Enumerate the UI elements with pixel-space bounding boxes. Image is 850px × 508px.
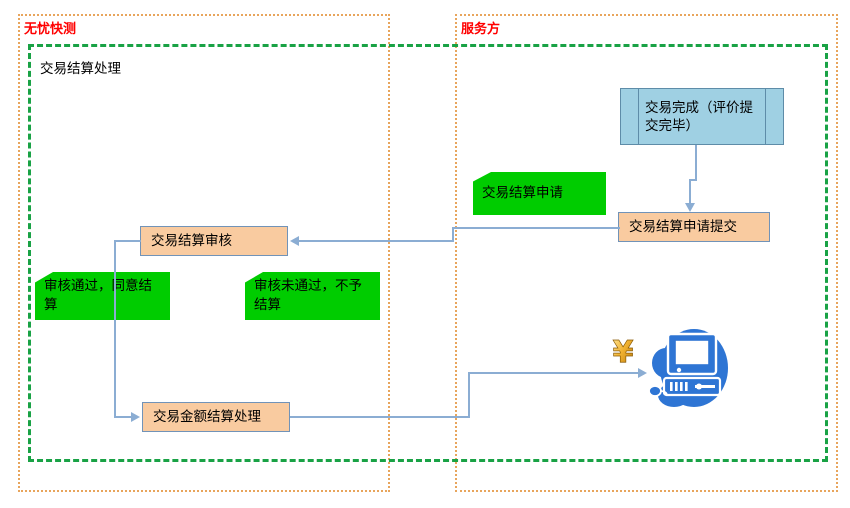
- predefined-bar-right: [765, 88, 766, 145]
- node-settlement-review-label: 交易结算审核: [151, 232, 232, 250]
- connector-c4-seg1: [290, 416, 470, 418]
- yuan-currency-glyph: ¥: [608, 334, 638, 368]
- node-transaction-complete-label: 交易完成（评价提交完毕）: [645, 99, 763, 135]
- node-review-approved[interactable]: 审核通过，同意结算: [35, 272, 170, 320]
- connector-c2-seg1: [452, 227, 620, 229]
- connector-c1-arrowhead: [685, 203, 695, 212]
- diagram-canvas: 无忧快测 服务方 交易结算处理 交易完成（评价提交完毕） 交易结算申请提交 交易…: [0, 0, 850, 508]
- yuan-currency-icon: ¥: [608, 334, 638, 368]
- predefined-bar-left: [638, 88, 639, 145]
- node-settlement-request[interactable]: 交易结算申请: [473, 172, 606, 215]
- node-settlement-review[interactable]: 交易结算审核: [140, 226, 288, 256]
- connector-c3-arrowhead: [131, 412, 140, 422]
- lane-right-title: 服务方: [461, 22, 500, 37]
- connector-c4-seg3: [468, 372, 640, 374]
- connector-c2-seg3: [299, 240, 454, 242]
- settlement-group-title: 交易结算处理: [40, 61, 121, 77]
- connector-c3-seg1: [114, 240, 141, 242]
- node-amount-settlement-label: 交易金额结算处理: [153, 408, 261, 426]
- lane-left-title: 无忧快测: [24, 22, 76, 37]
- node-review-approved-label: 审核通过，同意结算: [44, 277, 164, 315]
- node-amount-settlement[interactable]: 交易金额结算处理: [142, 402, 290, 432]
- node-transaction-complete[interactable]: 交易完成（评价提交完毕）: [620, 88, 784, 145]
- desktop-computer-icon: [644, 327, 730, 409]
- node-review-rejected[interactable]: 审核未通过，不予结算: [245, 272, 380, 320]
- node-settlement-request-submit[interactable]: 交易结算申请提交: [618, 212, 770, 242]
- connector-c1-seg3: [689, 179, 691, 205]
- node-settlement-request-label: 交易结算申请: [482, 184, 563, 203]
- svg-text:¥: ¥: [613, 335, 634, 368]
- connector-c1-seg1: [695, 145, 697, 181]
- connector-c4-seg2: [468, 372, 470, 418]
- desktop-computer-graphic: [644, 327, 730, 409]
- connector-c2-arrowhead: [290, 236, 299, 246]
- node-settlement-request-submit-label: 交易结算申请提交: [629, 218, 737, 236]
- connector-c3-seg2: [114, 240, 116, 417]
- node-review-rejected-label: 审核未通过，不予结算: [254, 277, 374, 315]
